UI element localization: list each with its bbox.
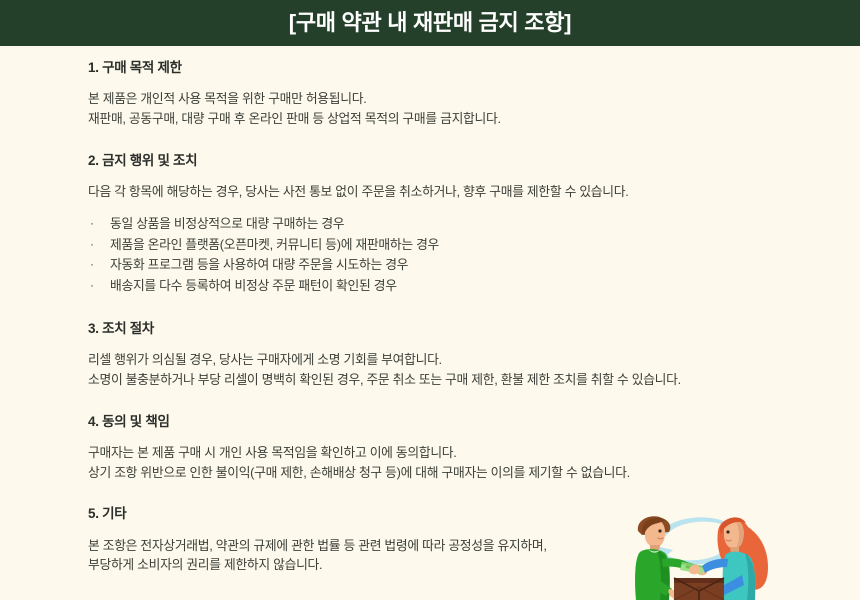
spacer [88,297,860,321]
spacer [88,129,860,153]
section-2-heading: 2. 금지 행위 및 조치 [88,153,860,169]
document-content: 1. 구매 목적 제한 본 제품은 개인적 사용 목적을 위한 구매만 허용됩니… [88,60,860,600]
section-3-line-1: 리셀 행위가 의심될 경우, 당사는 구매자에게 소명 기회를 부여합니다. [88,350,860,370]
list-item: · 동일 상품을 비정상적으로 대량 구매하는 경우 [88,214,860,235]
section-2-line-1: 다음 각 항목에 해당하는 경우, 당사는 사전 통보 없이 주문을 취소하거나… [88,182,860,202]
spacer [88,575,860,600]
page-title: [구매 약관 내 재판매 금지 조항] [289,12,571,34]
section-3-line-2: 소명이 불충분하거나 부당 리셀이 명백히 확인된 경우, 주문 취소 또는 구… [88,370,860,390]
spacer [88,202,860,214]
list-item-label: 배송지를 다수 등록하여 비정상 주문 패턴이 확인된 경우 [110,278,397,293]
spacer [88,430,860,443]
section-5: 5. 기타 본 조항은 전자상거래법, 약관의 규제에 관한 법률 등 관련 법… [88,506,860,575]
bullet-marker-icon: · [90,214,94,233]
section-1-heading: 1. 구매 목적 제한 [88,60,860,76]
section-1: 1. 구매 목적 제한 본 제품은 개인적 사용 목적을 위한 구매만 허용됩니… [88,60,860,129]
list-item: · 배송지를 다수 등록하여 비정상 주문 패턴이 확인된 경우 [88,276,860,297]
list-item: · 제품을 온라인 플랫폼(오픈마켓, 커뮤니티 등)에 재판매하는 경우 [88,235,860,256]
bullet-marker-icon: · [90,235,94,254]
list-item-label: 동일 상품을 비정상적으로 대량 구매하는 경우 [110,216,344,231]
list-item-label: 제품을 온라인 플랫폼(오픈마켓, 커뮤니티 등)에 재판매하는 경우 [110,237,439,252]
spacer [88,337,860,350]
section-5-body: 본 조항은 전자상거래법, 약관의 규제에 관한 법률 등 관련 법령에 따라 … [88,536,860,576]
section-3-body: 리셀 행위가 의심될 경우, 당사는 구매자에게 소명 기회를 부여합니다. 소… [88,350,860,390]
section-4-line-2: 상기 조항 위반으로 인한 불이익(구매 제한, 손해배상 청구 등)에 대해 … [88,463,860,483]
list-item-label: 자동화 프로그램 등을 사용하여 대량 주문을 시도하는 경우 [110,257,408,272]
section-4: 4. 동의 및 책임 구매자는 본 제품 구매 시 개인 사용 목적임을 확인하… [88,414,860,483]
section-3: 3. 조치 절차 리셀 행위가 의심될 경우, 당사는 구매자에게 소명 기회를… [88,321,860,390]
page-header-bar: [구매 약관 내 재판매 금지 조항] [0,0,860,46]
spacer [88,523,860,536]
section-4-body: 구매자는 본 제품 구매 시 개인 사용 목적임을 확인하고 이에 동의합니다.… [88,443,860,483]
spacer [88,169,860,182]
section-1-line-2: 재판매, 공동구매, 대량 구매 후 온라인 판매 등 상업적 목적의 구매를 … [88,109,860,129]
section-5-line-1: 본 조항은 전자상거래법, 약관의 규제에 관한 법률 등 관련 법령에 따라 … [88,536,860,556]
section-5-line-2: 부당하게 소비자의 권리를 제한하지 않습니다. [88,555,860,575]
bullet-marker-icon: · [90,255,94,274]
bullet-marker-icon: · [90,276,94,295]
section-2-bullet-list: · 동일 상품을 비정상적으로 대량 구매하는 경우 · 제품을 온라인 플랫폼… [88,214,860,297]
section-4-heading: 4. 동의 및 책임 [88,414,860,430]
spacer [88,76,860,89]
section-2-body: 다음 각 항목에 해당하는 경우, 당사는 사전 통보 없이 주문을 취소하거나… [88,182,860,202]
document-page: [구매 약관 내 재판매 금지 조항] 1. 구매 목적 제한 본 제품은 개인… [0,0,860,600]
section-1-line-1: 본 제품은 개인적 사용 목적을 위한 구매만 허용됩니다. [88,89,860,109]
list-item: · 자동화 프로그램 등을 사용하여 대량 주문을 시도하는 경우 [88,255,860,276]
section-3-heading: 3. 조치 절차 [88,321,860,337]
section-4-line-1: 구매자는 본 제품 구매 시 개인 사용 목적임을 확인하고 이에 동의합니다. [88,443,860,463]
spacer [88,390,860,414]
section-5-heading: 5. 기타 [88,506,860,522]
section-2: 2. 금지 행위 및 조치 다음 각 항목에 해당하는 경우, 당사는 사전 통… [88,153,860,297]
spacer [88,482,860,506]
section-1-body: 본 제품은 개인적 사용 목적을 위한 구매만 허용됩니다. 재판매, 공동구매… [88,89,860,129]
